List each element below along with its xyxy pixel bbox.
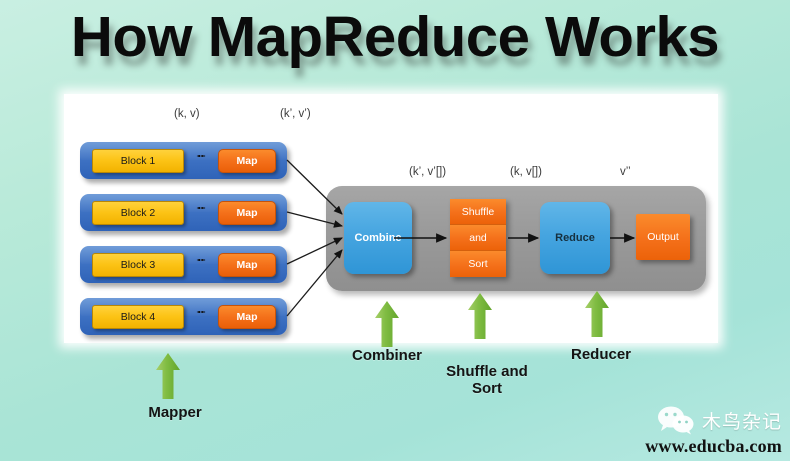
callout-label: Mapper	[148, 405, 201, 422]
shuffle-and-sort-stack[interactable]: ShuffleandSort	[450, 199, 506, 277]
output-label: Output	[647, 231, 679, 243]
callout-label: Reducer	[571, 347, 631, 364]
block-map-double-arrow	[185, 207, 219, 209]
callout-arrow-up-icon	[584, 290, 610, 338]
kv-label-3: (k, v[])	[510, 166, 542, 178]
map-box[interactable]: Map	[218, 149, 276, 173]
wechat-icon	[656, 405, 696, 435]
block-box[interactable]: Block 2	[92, 201, 184, 225]
shuffle-cell: Shuffle	[450, 199, 506, 225]
shuffle-cell: Sort	[450, 251, 506, 277]
callout-arrow-up-icon	[155, 352, 181, 400]
shuffle-cell: and	[450, 225, 506, 251]
block-box[interactable]: Block 1	[92, 149, 184, 173]
map-box[interactable]: Map	[218, 201, 276, 225]
reduce-node[interactable]: Reduce	[540, 202, 610, 274]
brand-row: 木鸟杂记	[645, 405, 782, 435]
brand-name-cn: 木鸟杂记	[702, 407, 782, 434]
combine-node[interactable]: Combine	[344, 202, 412, 274]
callout-arrow-up-icon	[374, 300, 400, 348]
output-node[interactable]: Output	[636, 214, 690, 260]
mapper-row[interactable]: Block 1Map	[80, 142, 287, 179]
mapper-row[interactable]: Block 3Map	[80, 246, 287, 283]
kv-label-0: (k, v)	[174, 108, 200, 120]
kv-label-1: (k’, v’)	[280, 108, 311, 120]
brand-block: 木鸟杂记 www.educba.com	[645, 405, 782, 457]
map-box[interactable]: Map	[218, 305, 276, 329]
process-container: Combine ShuffleandSort Reduce Output	[326, 186, 706, 291]
callout-arrow-up-icon	[467, 292, 493, 340]
combine-label: Combine	[354, 232, 401, 244]
kv-label-2: (k’, v’[])	[409, 166, 446, 178]
page-title: How MapReduce Works	[71, 4, 719, 70]
map-box[interactable]: Map	[218, 253, 276, 277]
mapper-row[interactable]: Block 2Map	[80, 194, 287, 231]
block-map-double-arrow	[185, 311, 219, 313]
callout-label: Shuffle and Sort	[432, 364, 542, 398]
callout-label: Combiner	[352, 348, 422, 365]
mapper-row[interactable]: Block 4Map	[80, 298, 287, 335]
block-map-double-arrow	[185, 155, 219, 157]
title-bar: How MapReduce Works	[0, 0, 790, 88]
block-map-double-arrow	[185, 259, 219, 261]
block-box[interactable]: Block 3	[92, 253, 184, 277]
block-box[interactable]: Block 4	[92, 305, 184, 329]
brand-url: www.educba.com	[645, 436, 782, 457]
reduce-label: Reduce	[555, 232, 595, 244]
kv-label-4: v’’	[620, 166, 631, 178]
